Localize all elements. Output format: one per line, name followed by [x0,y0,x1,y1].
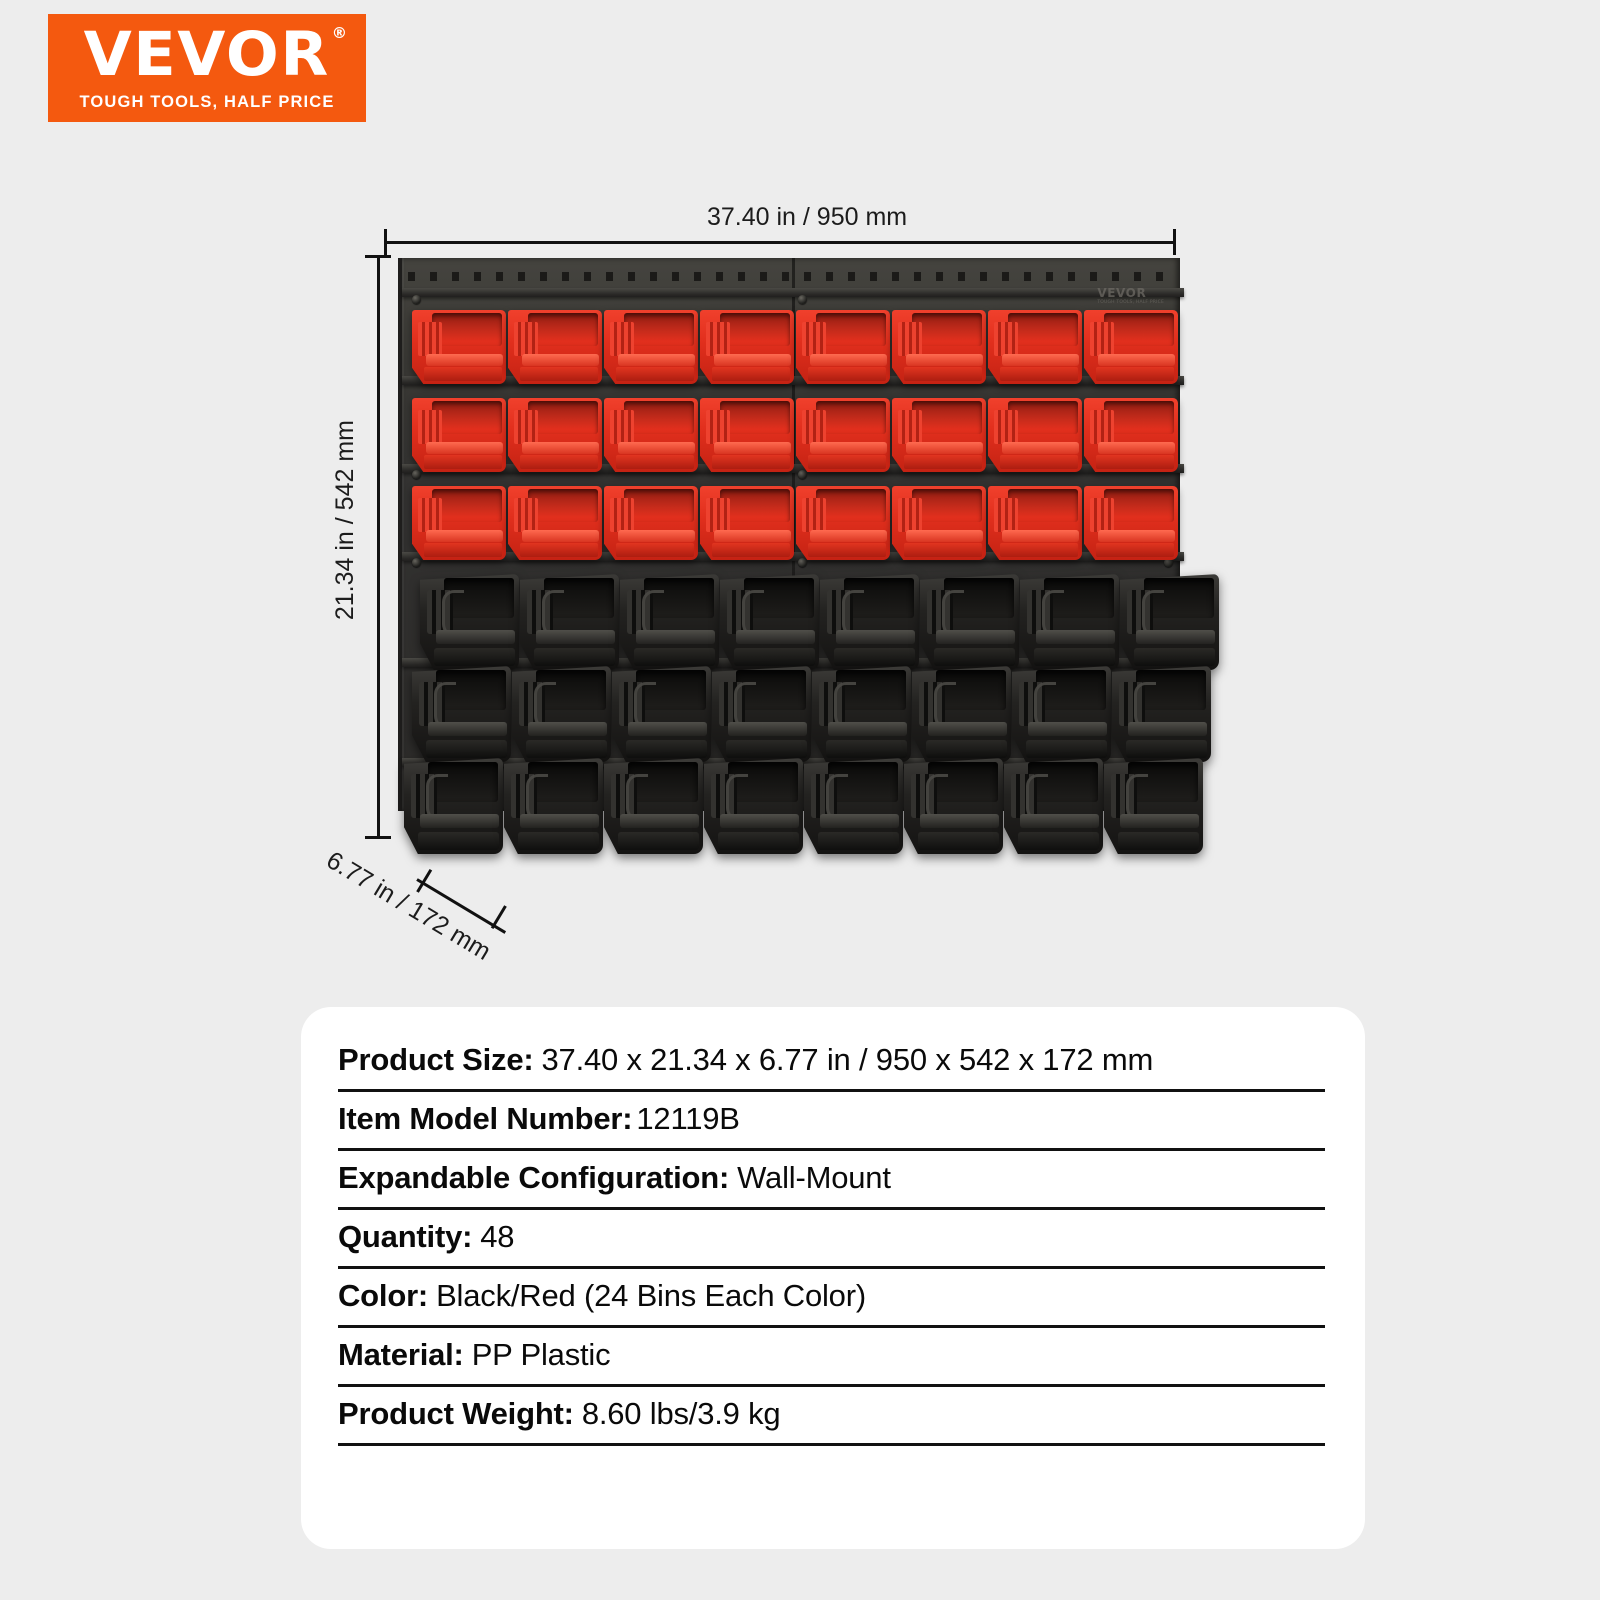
red-bin [892,398,986,472]
black-bin [1112,666,1211,762]
red-bin [604,398,698,472]
spec-label: Product Size: [338,1042,533,1078]
black-bin [904,758,1003,854]
red-bin [892,310,986,384]
red-bin-row [412,398,1180,472]
black-bin-row [404,758,1204,854]
red-bin [412,310,506,384]
red-bin [796,486,890,560]
specification-card: Product Size: 37.40 x 21.34 x 6.77 in / … [301,1007,1365,1549]
mounting-screw [412,295,421,304]
spec-value: 8.60 lbs/3.9 kg [582,1396,781,1432]
spec-row-product-size: Product Size: 37.40 x 21.34 x 6.77 in / … [338,1033,1325,1092]
pegboard-rail [402,288,1184,297]
height-dimension-line [377,255,380,839]
black-bin [720,574,819,670]
black-bin [520,574,619,670]
black-bin [504,758,603,854]
black-bin [820,574,919,670]
wall-mount-bin-rack: VEVOR TOUGH TOOLS, HALF PRICE [398,258,1180,858]
product-image: 37.40 in / 950 mm 21.34 in / 542 mm 6.77… [0,0,1600,1000]
spec-label: Quantity: [338,1219,472,1255]
spec-row-product-weight: Product Weight: 8.60 lbs/3.9 kg [338,1387,1325,1446]
red-bin [508,310,602,384]
spec-label: Material: [338,1337,464,1373]
black-bin [912,666,1011,762]
spec-label: Expandable Configuration: [338,1160,729,1196]
spec-row-quantity: Quantity: 48 [338,1210,1325,1269]
width-tick-right [1173,229,1176,255]
spec-value: Black/Red (24 Bins Each Color) [436,1278,866,1314]
width-dimension-label: 37.40 in / 950 mm [707,203,907,232]
red-bin [988,398,1082,472]
spec-row-material: Material: PP Plastic [338,1328,1325,1387]
width-dimension-line [384,241,1176,244]
black-bin [712,666,811,762]
black-bin [604,758,703,854]
spec-row-color: Color: Black/Red (24 Bins Each Color) [338,1269,1325,1328]
mounting-screw [798,295,807,304]
red-bin [1084,398,1178,472]
black-bin [1120,574,1219,670]
red-bin [508,398,602,472]
red-bin [796,310,890,384]
black-bin [804,758,903,854]
height-tick-bottom [365,836,391,839]
black-bin [620,574,719,670]
black-bin [612,666,711,762]
red-bin [412,486,506,560]
depth-dimension-label: 6.77 in / 172 mm [321,846,496,967]
red-bin [508,486,602,560]
red-bin [604,310,698,384]
red-bin [1084,486,1178,560]
spec-value: 37.40 x 21.34 x 6.77 in / 950 x 542 x 17… [541,1042,1153,1078]
spec-label: Product Weight: [338,1396,574,1432]
black-bin [1004,758,1103,854]
red-bin [700,310,794,384]
width-tick-left [384,229,387,255]
red-bin [988,310,1082,384]
spec-value: PP Plastic [472,1337,611,1373]
red-bin [700,486,794,560]
red-bin [700,398,794,472]
black-bin [1012,666,1111,762]
red-bin [796,398,890,472]
product-spec-page: VEVOR ® TOUGH TOOLS, HALF PRICE 37.40 in… [0,0,1600,1600]
black-bin [420,574,519,670]
black-bin [1104,758,1203,854]
black-bin [512,666,611,762]
black-bin [1020,574,1119,670]
spec-row-expandable-configuration: Expandable Configuration: Wall-Mount [338,1151,1325,1210]
spec-value: 48 [480,1219,514,1255]
red-bin [892,486,986,560]
pegboard-watermark: VEVOR TOUGH TOOLS, HALF PRICE [1097,286,1164,305]
black-bin [920,574,1019,670]
spec-row-item-model-number: Item Model Number: 12119B [338,1092,1325,1151]
red-bin [1084,310,1178,384]
red-bin [412,398,506,472]
black-bin-row [412,666,1212,762]
height-tick-top [365,255,391,258]
black-bin [812,666,911,762]
spec-value: 12119B [636,1101,739,1137]
spec-label: Item Model Number: [338,1101,632,1137]
black-bin [704,758,803,854]
red-bin [604,486,698,560]
red-bin [988,486,1082,560]
red-bin-row [412,310,1180,384]
red-bin-row [412,486,1180,560]
black-bin-row [420,574,1220,670]
depth-tick-right [491,905,507,929]
black-bin [412,666,511,762]
black-bin [404,758,503,854]
height-dimension-label: 21.34 in / 542 mm [331,420,360,620]
spec-value: Wall-Mount [737,1160,891,1196]
spec-label: Color: [338,1278,428,1314]
